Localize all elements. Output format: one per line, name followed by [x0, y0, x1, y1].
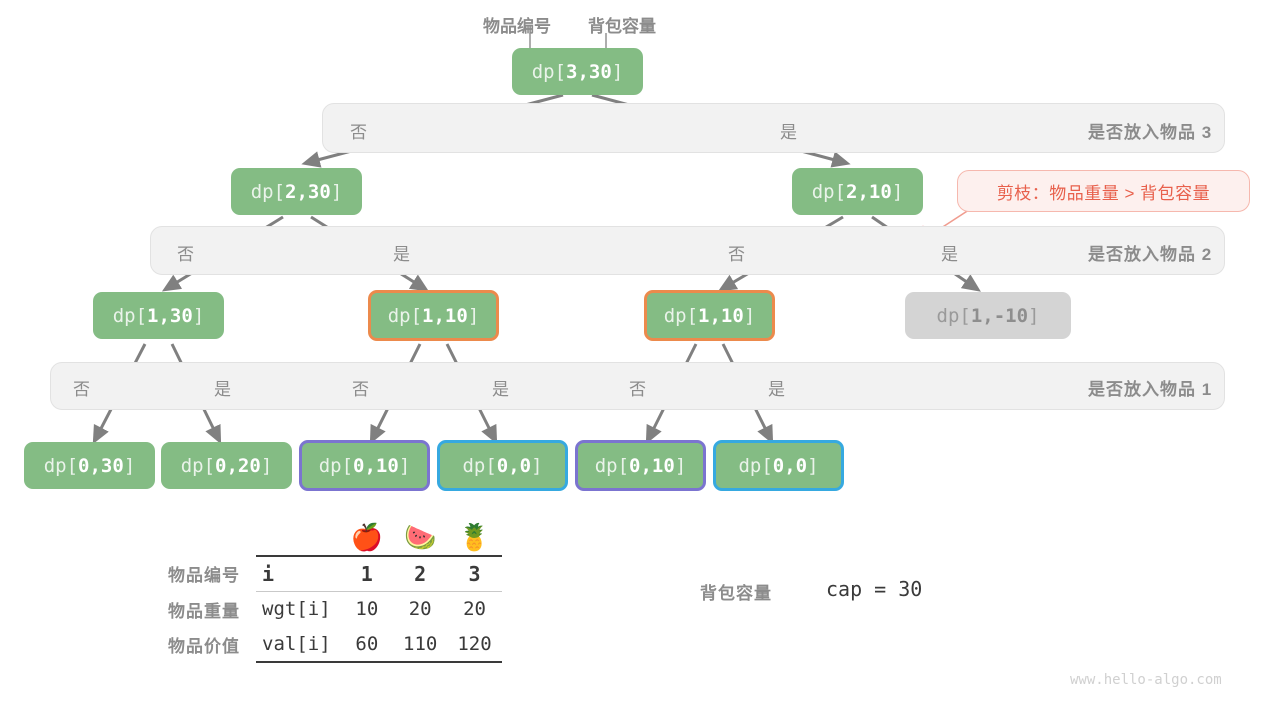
diagram-canvas: 物品编号 背包容量 是否放入物品 3 否 是 是否放入物品 2 否 是 否 是 …: [0, 0, 1280, 720]
pointer-label-item-index: 物品编号: [483, 12, 551, 37]
row-name-val: val[i]: [256, 627, 341, 662]
node-value: 1,30: [147, 305, 193, 327]
row-label-item-weight: 物品重量: [158, 592, 256, 627]
tree-node-dp-1-10-left[interactable]: dp[1,10]: [368, 290, 499, 341]
node-prefix: dp[: [113, 305, 147, 327]
tree-node-dp-2-30[interactable]: dp[2,30]: [231, 168, 362, 215]
node-value: 1,10: [698, 305, 744, 327]
cell-value-2: 110: [393, 627, 447, 662]
level-band-item-1-title: 是否放入物品 1: [1088, 375, 1212, 400]
capacity-value: cap = 30: [826, 577, 922, 601]
tree-node-dp-0-10-right[interactable]: dp[0,10]: [575, 440, 706, 491]
node-value: 0,0: [773, 455, 807, 477]
node-suffix: ]: [331, 181, 342, 203]
row-name-i: i: [256, 556, 341, 592]
fruit-pineapple-icon: 🍍: [447, 518, 501, 556]
cell-weight-1: 10: [341, 592, 393, 627]
branch-label-yes-3: 是: [780, 118, 797, 143]
item-table: 🍎 🍉 🍍 物品编号 i 1 2 3 物品重量 wgt[i] 10 20 20 …: [158, 518, 502, 663]
node-suffix: ]: [124, 455, 135, 477]
capacity-label: 背包容量: [700, 579, 772, 604]
cell-weight-3: 20: [447, 592, 501, 627]
level-band-item-2-title: 是否放入物品 2: [1088, 240, 1212, 265]
node-value: 0,30: [78, 455, 124, 477]
node-value: 0,10: [353, 455, 399, 477]
node-suffix: ]: [1028, 305, 1039, 327]
cell-value-1: 60: [341, 627, 393, 662]
tree-node-dp-0-30[interactable]: dp[0,30]: [24, 442, 155, 489]
node-suffix: ]: [744, 305, 755, 327]
tree-node-dp-1-30[interactable]: dp[1,30]: [93, 292, 224, 339]
tree-node-dp-0-0-left[interactable]: dp[0,0]: [437, 440, 568, 491]
node-prefix: dp[: [937, 305, 971, 327]
tree-node-dp-3-30[interactable]: dp[3,30]: [512, 48, 643, 95]
table-row-emoji: 🍎 🍉 🍍: [158, 518, 502, 556]
level-band-item-2: [150, 226, 1225, 275]
node-value: 2,10: [846, 181, 892, 203]
tree-node-dp-0-10-left[interactable]: dp[0,10]: [299, 440, 430, 491]
branch-label-yes-1-b: 是: [492, 375, 509, 400]
row-name-wgt: wgt[i]: [256, 592, 341, 627]
node-prefix: dp[: [44, 455, 78, 477]
table-row-weight: 物品重量 wgt[i] 10 20 20: [158, 592, 502, 627]
cell-index-2: 2: [393, 556, 447, 592]
fruit-apple-icon: 🍎: [341, 518, 393, 556]
table-row-value: 物品价值 val[i] 60 110 120: [158, 627, 502, 662]
branch-label-no-2-b: 否: [728, 240, 745, 265]
node-suffix: ]: [892, 181, 903, 203]
node-prefix: dp[: [462, 455, 496, 477]
tree-node-dp-0-20[interactable]: dp[0,20]: [161, 442, 292, 489]
node-value: 1,10: [422, 305, 468, 327]
pruning-callout: 剪枝：物品重量 > 背包容量: [957, 170, 1250, 212]
tree-node-dp-1-10-right[interactable]: dp[1,10]: [644, 290, 775, 341]
node-value: 2,30: [285, 181, 331, 203]
table-row-index: 物品编号 i 1 2 3: [158, 556, 502, 592]
node-prefix: dp[: [319, 455, 353, 477]
node-suffix: ]: [193, 305, 204, 327]
branch-label-no-1-a: 否: [73, 375, 90, 400]
emoji-row-spacer: [256, 518, 341, 556]
cell-value-3: 120: [447, 627, 501, 662]
branch-label-no-1-c: 否: [629, 375, 646, 400]
watermark: www.hello-algo.com: [1070, 672, 1222, 688]
node-prefix: dp[: [181, 455, 215, 477]
node-suffix: ]: [807, 455, 818, 477]
node-prefix: dp[: [595, 455, 629, 477]
node-prefix: dp[: [388, 305, 422, 327]
node-prefix: dp[: [532, 61, 566, 83]
node-value: 0,20: [215, 455, 261, 477]
node-suffix: ]: [399, 455, 410, 477]
branch-label-no-1-b: 否: [352, 375, 369, 400]
branch-label-no-3: 否: [350, 118, 367, 143]
branch-label-no-2-a: 否: [177, 240, 194, 265]
fruit-watermelon-icon: 🍉: [393, 518, 447, 556]
node-suffix: ]: [531, 455, 542, 477]
node-suffix: ]: [468, 305, 479, 327]
cell-index-3: 3: [447, 556, 501, 592]
cell-index-1: 1: [341, 556, 393, 592]
level-band-item-3-title: 是否放入物品 3: [1088, 118, 1212, 143]
node-prefix: dp[: [812, 181, 846, 203]
node-prefix: dp[: [738, 455, 772, 477]
row-label-item-value: 物品价值: [158, 627, 256, 662]
pointer-label-capacity: 背包容量: [588, 12, 656, 37]
branch-label-yes-1-c: 是: [768, 375, 785, 400]
node-value: 0,0: [497, 455, 531, 477]
node-value: 0,10: [629, 455, 675, 477]
branch-label-yes-1-a: 是: [214, 375, 231, 400]
node-value: 3,30: [566, 61, 612, 83]
tree-node-dp-1-minus-10-pruned[interactable]: dp[1,-10]: [905, 292, 1071, 339]
node-prefix: dp[: [251, 181, 285, 203]
cell-weight-2: 20: [393, 592, 447, 627]
row-label-item-index: 物品编号: [158, 556, 256, 592]
tree-node-dp-2-10[interactable]: dp[2,10]: [792, 168, 923, 215]
node-prefix: dp[: [664, 305, 698, 327]
emoji-row-label: [158, 518, 256, 556]
node-suffix: ]: [675, 455, 686, 477]
node-suffix: ]: [261, 455, 272, 477]
branch-label-yes-2-b: 是: [941, 240, 958, 265]
tree-node-dp-0-0-right[interactable]: dp[0,0]: [713, 440, 844, 491]
branch-label-yes-2-a: 是: [393, 240, 410, 265]
node-value: 1,-10: [971, 305, 1028, 327]
node-suffix: ]: [612, 61, 623, 83]
